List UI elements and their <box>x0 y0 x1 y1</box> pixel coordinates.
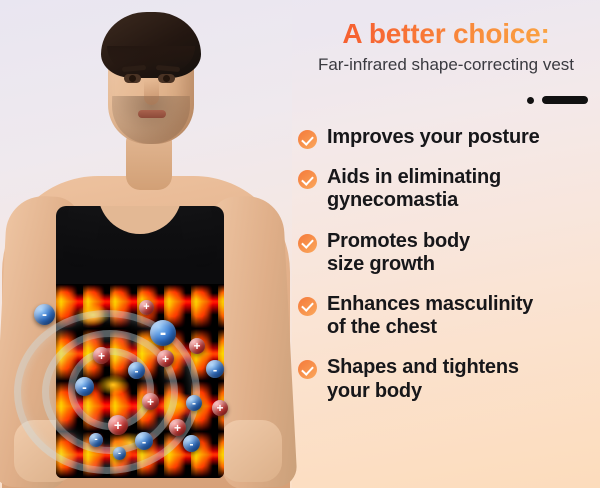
product-photo: -+-+++---+-+++---- <box>0 0 292 488</box>
benefit-label: Promotes body size growth <box>327 230 470 276</box>
ion-negative-icon: - <box>206 360 224 378</box>
benefit-item: Enhances masculinity of the chest <box>298 293 600 339</box>
ion-negative-icon: - <box>89 433 103 447</box>
benefit-label: Enhances masculinity of the chest <box>327 293 533 339</box>
ion-positive-icon: + <box>142 393 159 410</box>
ion-positive-icon: + <box>93 347 110 364</box>
ion-negative-icon: - <box>183 435 200 452</box>
benefit-label: Shapes and tightens your body <box>327 356 519 402</box>
benefits-list: Improves your postureAids in eliminating… <box>298 126 600 420</box>
ion-positive-icon: + <box>157 350 174 367</box>
pagination-active-bar-icon[interactable] <box>542 96 588 104</box>
ion-negative-icon: - <box>113 447 126 460</box>
benefit-item: Shapes and tightens your body <box>298 356 600 402</box>
ion-positive-icon: + <box>169 419 186 436</box>
benefit-label: Improves your posture <box>327 126 540 149</box>
ion-positive-icon: + <box>212 400 228 416</box>
ion-negative-icon: - <box>135 432 153 450</box>
check-circle-icon <box>298 234 317 253</box>
vest-strap-right <box>176 206 219 270</box>
benefit-item: Promotes body size growth <box>298 230 600 276</box>
model-nose <box>144 80 159 105</box>
model-hand-right <box>220 420 282 482</box>
pagination-dot-icon[interactable] <box>527 97 534 104</box>
ion-negative-icon: - <box>128 362 145 379</box>
vest-strap-left <box>60 206 103 270</box>
content-column: A better choice: Far-infrared shape-corr… <box>292 0 600 488</box>
page-subtitle: Far-infrared shape-correcting vest <box>292 55 600 75</box>
ion-negative-icon: - <box>34 304 55 325</box>
promo-banner: -+-+++---+-+++---- A better choice: Far-… <box>0 0 600 488</box>
ion-negative-icon: - <box>75 377 94 396</box>
ion-positive-icon: + <box>189 338 205 354</box>
ion-positive-icon: + <box>139 300 154 315</box>
model-mouth <box>138 110 166 118</box>
benefit-item: Improves your posture <box>298 126 600 149</box>
ion-positive-icon: + <box>108 415 128 435</box>
check-circle-icon <box>298 297 317 316</box>
ion-negative-icon: - <box>150 320 176 346</box>
check-circle-icon <box>298 130 317 149</box>
check-circle-icon <box>298 170 317 189</box>
carousel-pagination[interactable] <box>527 96 588 104</box>
model-eye-left <box>124 74 141 83</box>
ion-negative-icon: - <box>186 395 202 411</box>
benefit-label: Aids in eliminating gynecomastia <box>327 166 501 212</box>
benefit-item: Aids in eliminating gynecomastia <box>298 166 600 212</box>
page-title: A better choice: <box>292 18 600 50</box>
model-eye-right <box>158 74 175 83</box>
check-circle-icon <box>298 360 317 379</box>
vest-neckline <box>98 206 182 234</box>
